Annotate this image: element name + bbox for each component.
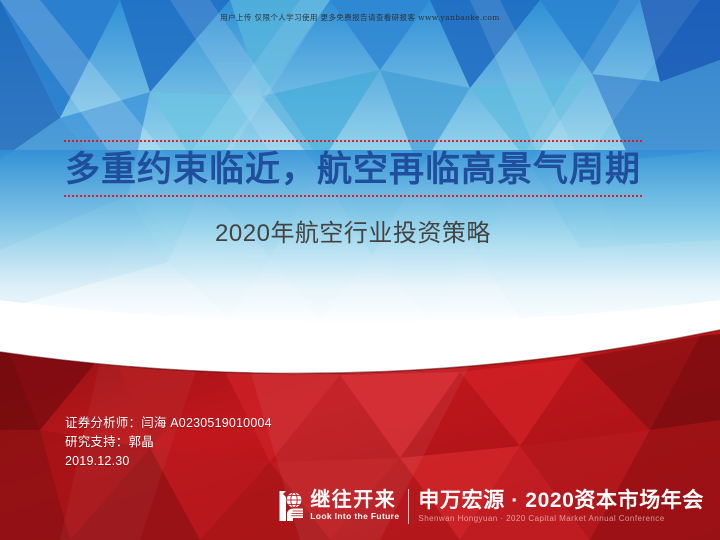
conference-logo-lockup: 继往开来 Look Into the Future 申万宏源 · 2020资本市… xyxy=(278,484,704,528)
logo-divider xyxy=(408,489,409,524)
conference-name-group: 申万宏源 · 2020资本市场年会 Shenwan Hongyuan · 202… xyxy=(418,489,704,524)
title-bottom-dotted-rule xyxy=(64,195,642,197)
page-title: 多重约束临近，航空再临高景气周期 xyxy=(64,142,642,195)
conference-name-en: Shenwan Hongyuan · 2020 Capital Market A… xyxy=(418,513,704,524)
presentation-title-slide: 用户上传 仅限个人学习使用 更多免费报告请查看研报客 www.yanbaoke.… xyxy=(0,0,720,540)
brand-slogan-group: 继往开来 Look Into the Future xyxy=(278,486,408,526)
credit-research-support: 研究支持：郭晶 xyxy=(65,433,272,452)
globe-hand-logo-icon xyxy=(278,490,305,522)
upload-watermark-text: 用户上传 仅限个人学习使用 更多免费报告请查看研报客 www.yanbaoke.… xyxy=(0,12,720,23)
analyst-credits-block: 证券分析师：闫海 A0230519010004 研究支持：郭晶 2019.12.… xyxy=(65,414,272,471)
page-subtitle: 2020年航空行业投资策略 xyxy=(64,197,642,248)
title-block: 多重约束临近，航空再临高景气周期 2020年航空行业投资策略 xyxy=(64,140,642,248)
credit-analyst: 证券分析师：闫海 A0230519010004 xyxy=(65,414,272,433)
brand-slogan-en: Look Into the Future xyxy=(310,511,399,522)
brand-slogan-text: 继往开来 Look Into the Future xyxy=(310,490,399,522)
title-top-dotted-rule xyxy=(64,140,642,142)
brand-slogan-cn: 继往开来 xyxy=(310,490,399,511)
credit-date: 2019.12.30 xyxy=(65,452,272,471)
conference-name-cn: 申万宏源 · 2020资本市场年会 xyxy=(418,489,704,512)
